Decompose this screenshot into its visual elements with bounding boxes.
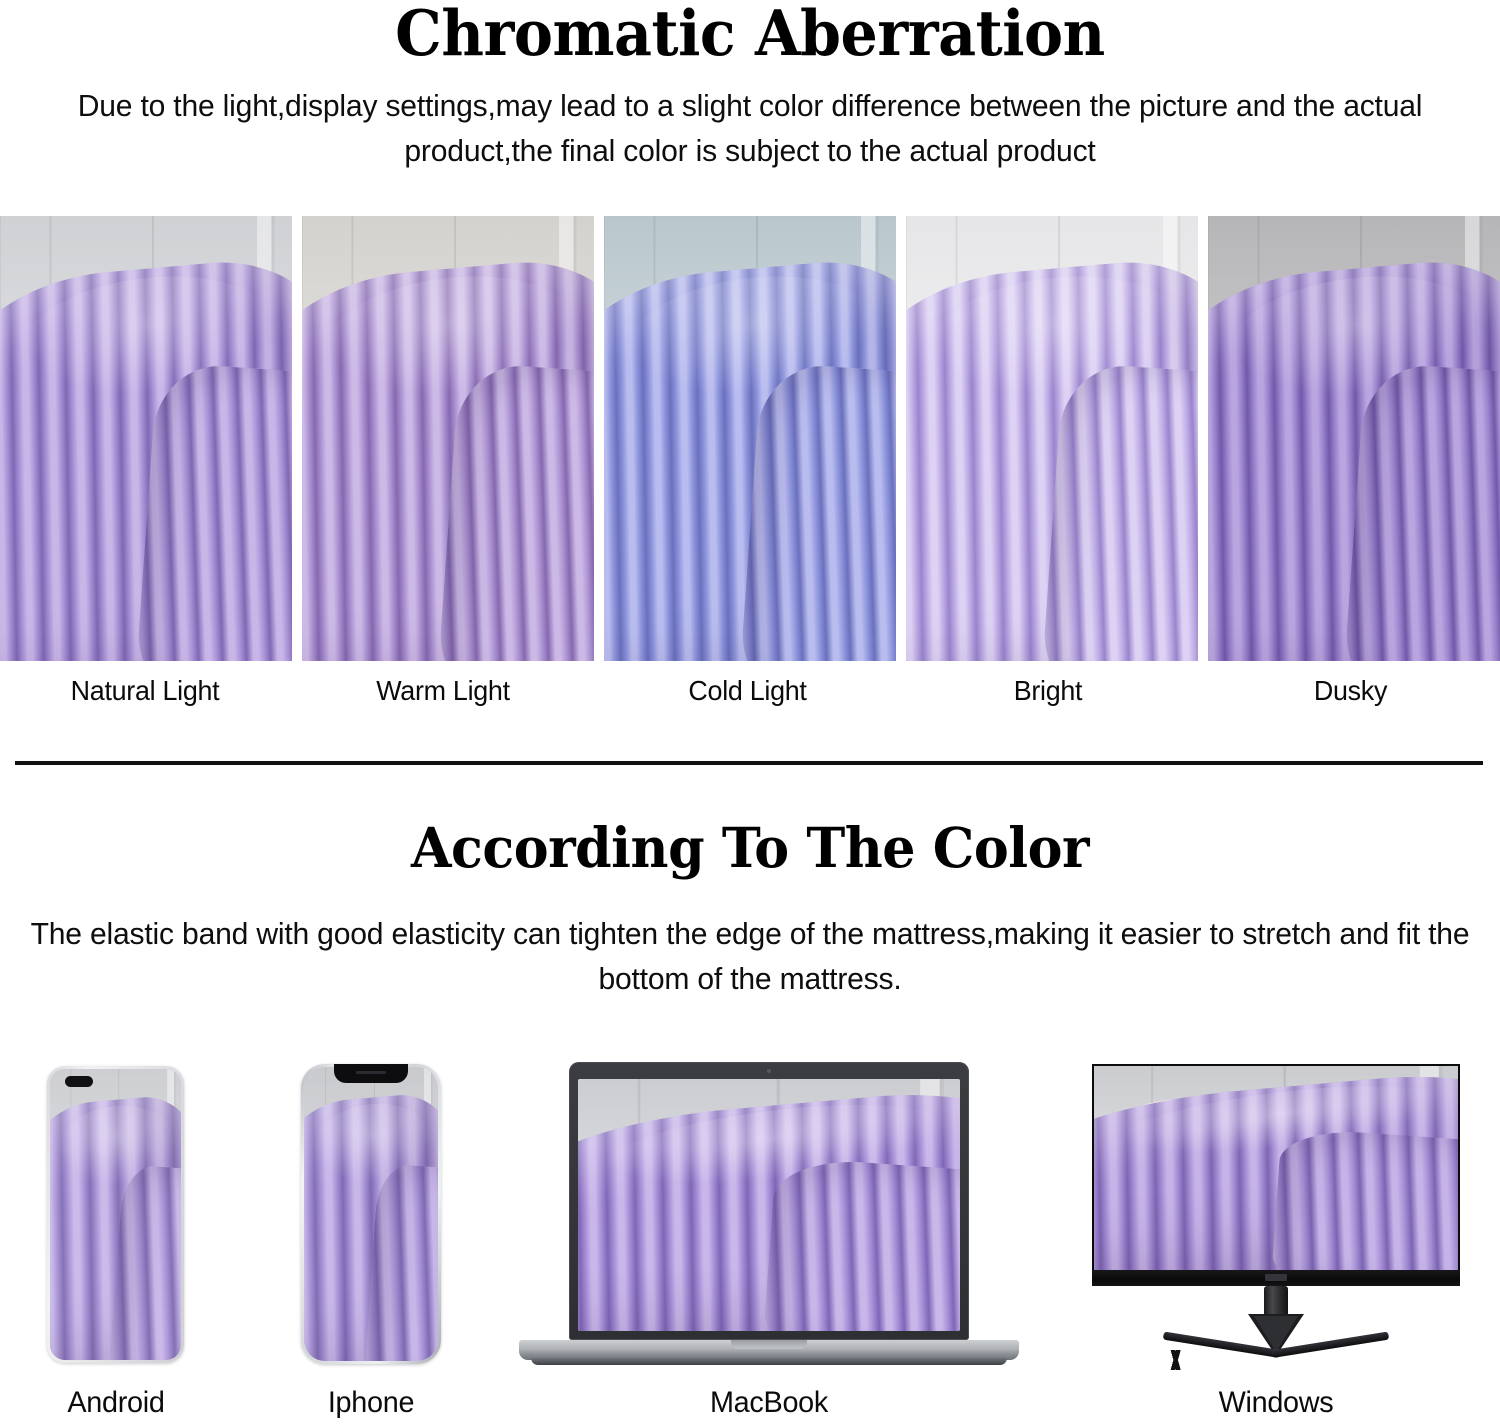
- iphone-frame: [301, 1064, 441, 1364]
- lighting-label-natural-light: Natural Light: [6, 675, 284, 707]
- android-screen: [50, 1069, 181, 1360]
- product-photo-bright: [906, 216, 1198, 661]
- product-photo-windows: [1094, 1066, 1458, 1270]
- monitor-brand-logo: [1265, 1274, 1287, 1281]
- monitor-chin: [1092, 1270, 1460, 1286]
- blanket-fold: [1271, 1127, 1458, 1270]
- device-label-macbook: MacBook: [529, 1386, 1009, 1420]
- macbook-foot: [531, 1358, 1007, 1365]
- section-divider: [15, 761, 1483, 765]
- device-mockup-iphone: [301, 1064, 441, 1364]
- front-camera-icon: [65, 1076, 93, 1087]
- device-label-android: Android: [43, 1386, 189, 1420]
- page-title-according-to-the-color: According To The Color: [38, 820, 1463, 875]
- product-infographic-page: Chromatic Aberration Due to the light,di…: [0, 0, 1500, 1424]
- macbook-lid-notch: [731, 1340, 807, 1349]
- webcam-icon: [767, 1069, 771, 1073]
- according-to-the-color-description: The elastic band with good elasticity ca…: [23, 912, 1478, 1002]
- lighting-label-cold-light: Cold Light: [606, 675, 889, 707]
- device-mockup-row: [0, 1050, 1500, 1424]
- product-photo-macbook: [578, 1079, 960, 1331]
- device-mockup-android: [47, 1066, 184, 1363]
- lighting-label-warm-light: Warm Light: [304, 675, 582, 707]
- device-mockup-windows: [1092, 1064, 1460, 1374]
- device-mockup-macbook: [519, 1062, 1019, 1372]
- device-label-windows: Windows: [1099, 1386, 1452, 1420]
- blanket-fold: [1343, 362, 1500, 661]
- product-photo-cold-light: [604, 216, 896, 661]
- lighting-swatch-natural-light: [0, 216, 292, 661]
- blanket-fold: [437, 362, 594, 661]
- notch-camera-icon: [334, 1064, 408, 1083]
- lighting-swatch-row: [0, 216, 1500, 661]
- chromatic-aberration-description: Due to the light,display settings,may le…: [23, 84, 1478, 174]
- android-frame: [47, 1066, 184, 1363]
- lighting-swatch-dusky: [1208, 216, 1500, 661]
- macbook-screen: [578, 1079, 960, 1331]
- blanket-fold: [135, 362, 292, 661]
- monitor-stand-base: [1162, 1350, 1390, 1370]
- page-title-chromatic-aberration: Chromatic Aberration: [53, 2, 1448, 65]
- blanket-fold: [763, 1156, 960, 1331]
- lighting-swatch-warm-light: [302, 216, 594, 661]
- iphone-screen: [304, 1067, 438, 1361]
- monitor-bezel: [1092, 1064, 1460, 1286]
- product-photo-android: [50, 1069, 181, 1360]
- product-photo-dusky: [1208, 216, 1500, 661]
- lighting-label-bright: Bright: [909, 675, 1187, 707]
- lighting-swatch-bright: [906, 216, 1198, 661]
- product-photo-natural-light: [0, 216, 292, 661]
- lighting-label-dusky: Dusky: [1209, 675, 1492, 707]
- product-photo-warm-light: [302, 216, 594, 661]
- lighting-swatch-cold-light: [604, 216, 896, 661]
- blanket-fold: [1041, 362, 1198, 661]
- product-photo-iphone: [304, 1067, 438, 1361]
- blanket-fold: [739, 362, 896, 661]
- monitor-screen: [1094, 1066, 1458, 1270]
- macbook-lid: [569, 1062, 969, 1340]
- device-label-iphone: Iphone: [295, 1386, 447, 1420]
